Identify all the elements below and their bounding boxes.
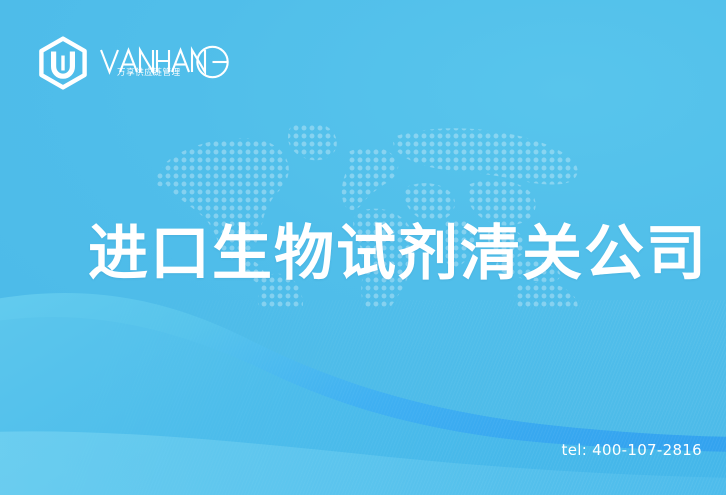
logo-subtitle-cn: 万享供应链管理	[117, 66, 181, 78]
company-logo: 万享供应链管理	[36, 36, 231, 90]
logo-wordmark: 万享供应链管理	[99, 41, 231, 85]
contact-telephone: tel: 400-107-2816	[562, 440, 702, 460]
promo-banner: 万享供应链管理 进口生物试剂清关公司 tel: 400-107-2816	[0, 0, 726, 495]
headline-title: 进口生物试剂清关公司	[88, 218, 658, 290]
vanhang-hexagon-mark	[36, 36, 90, 90]
